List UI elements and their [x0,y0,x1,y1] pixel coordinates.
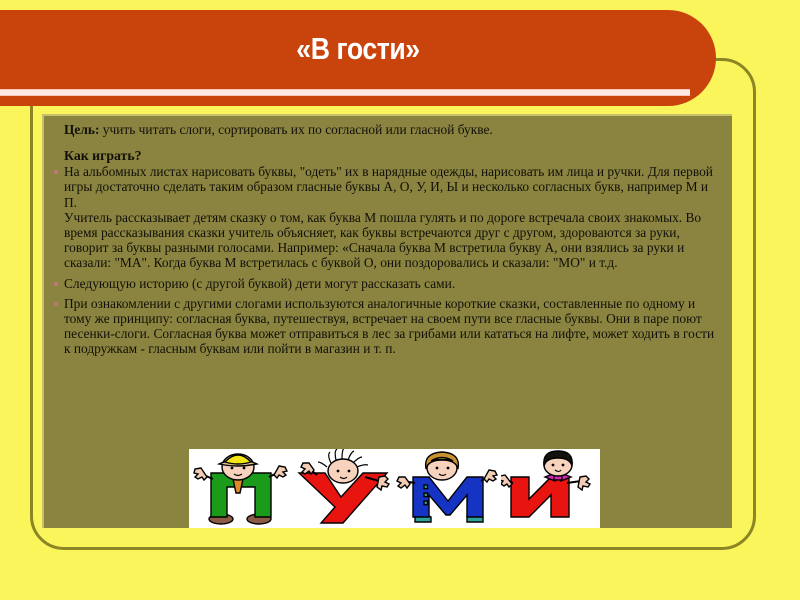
goal-text: учить читать слоги, сортировать их по со… [99,122,492,137]
paragraph-other-syllables: При ознакомлении с другими слогами испол… [54,296,722,357]
spacer [54,137,722,147]
goal-label: Цель: [64,122,99,137]
page-title: «В гости» [50,10,666,88]
goal-line: Цель: учить читать слоги, сортировать их… [54,122,722,137]
paragraph-story: Учитель рассказывает детям сказку о том,… [54,210,722,271]
slide-root: «В гости» Цель: учить читать слоги, сорт… [0,0,800,600]
letter-figure-u [291,449,396,528]
paragraph-next-story: Следующую историю (с другой буквой) дети… [54,276,722,291]
letter-figure-i [501,449,600,528]
title-divider [0,89,690,96]
letters-illustration [189,449,600,528]
title-banner: «В гости» [0,10,716,106]
how-to-play-heading: Как играть? [54,147,722,164]
paragraph-materials: На альбомных листах нарисовать буквы, "о… [54,164,722,210]
letter-figure-em [395,449,500,528]
letter-figure-pe [189,449,294,528]
